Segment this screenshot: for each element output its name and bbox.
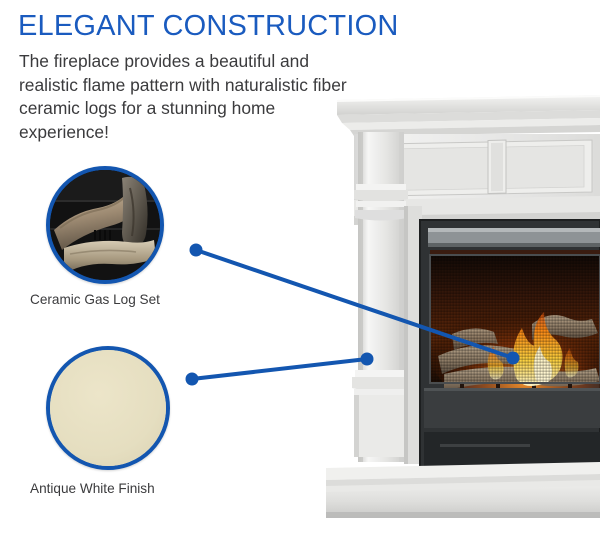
ceramic-log-photo xyxy=(50,170,160,280)
callout-label-antique-white-finish: Antique White Finish xyxy=(30,481,155,496)
body-description: The fireplace provides a beautiful and r… xyxy=(19,50,369,144)
antique-white-color-swatch xyxy=(50,350,166,466)
callout-swatch-ceramic-gas-log-set[interactable] xyxy=(46,166,164,284)
fireplace-mantel-photo xyxy=(320,88,600,518)
page-title: ELEGANT CONSTRUCTION xyxy=(18,11,399,41)
callout-label-ceramic-gas-log-set: Ceramic Gas Log Set xyxy=(30,292,160,307)
infographic-panel: ELEGANT CONSTRUCTION The fireplace provi… xyxy=(0,0,600,540)
callout-swatch-antique-white-finish[interactable] xyxy=(46,346,170,470)
leader-dot-start xyxy=(186,373,199,386)
leader-dot-start xyxy=(190,244,203,257)
